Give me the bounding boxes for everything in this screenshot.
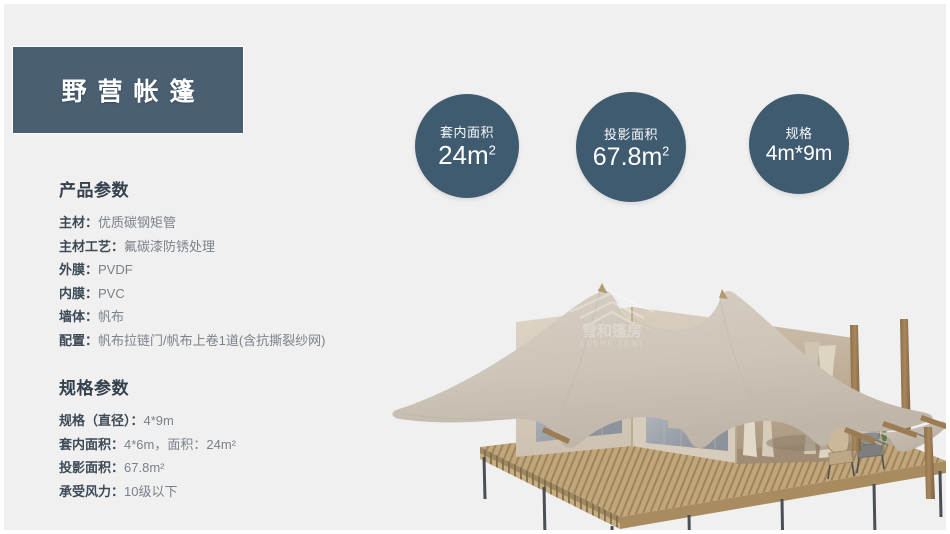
tent-render-svg bbox=[384, 199, 950, 534]
spec-value: 4*9m bbox=[144, 413, 174, 428]
page-title-banner: 野营帐篷 bbox=[12, 46, 244, 134]
stat-badge-dimensions: 规格 4m*9m bbox=[749, 94, 849, 194]
spec-value: 67.8m² bbox=[124, 460, 164, 475]
spec-label: 外膜： bbox=[59, 262, 98, 277]
post-right-outer bbox=[924, 427, 935, 499]
spec-value: 4*6m，面积：24m² bbox=[124, 437, 236, 452]
spec-row: 主材：优质碳钢矩管 bbox=[59, 211, 389, 235]
spec-value: 优质碳钢矩管 bbox=[98, 215, 176, 230]
spec-row: 主材工艺：氟碳漆防锈处理 bbox=[59, 235, 389, 259]
spec-row: 墙体：帆布 bbox=[59, 305, 389, 329]
stat-badge-label: 规格 bbox=[785, 123, 812, 142]
specification-panel: 产品参数 主材：优质碳钢矩管 主材工艺：氟碳漆防锈处理 外膜：PVDF 内膜：P… bbox=[59, 176, 389, 525]
spec-section-heading: 规格参数 bbox=[59, 374, 389, 399]
spec-value: 帆布拉链门/帆布上卷1道(含抗撕裂纱网) bbox=[98, 333, 326, 348]
stat-badge-label: 套内面积 bbox=[440, 122, 494, 141]
stat-badge-label: 投影面积 bbox=[604, 124, 658, 143]
tent-illustration bbox=[384, 199, 950, 534]
stat-badge-projected-area: 投影面积 67.8m2 bbox=[576, 92, 686, 202]
spec-label: 主材工艺： bbox=[59, 239, 124, 254]
stat-badge-interior-area: 套内面积 24m2 bbox=[415, 94, 519, 198]
spec-label: 主材： bbox=[59, 215, 98, 230]
spec-row: 承受风力：10级以下 bbox=[59, 480, 389, 504]
spec-row: 外膜：PVDF bbox=[59, 258, 389, 282]
product-section-heading: 产品参数 bbox=[59, 176, 389, 201]
spec-value: PVDF bbox=[98, 262, 133, 277]
stat-badge-value: 67.8m2 bbox=[593, 144, 669, 170]
spec-label: 配置： bbox=[59, 333, 98, 348]
spec-label: 规格（直径）： bbox=[59, 413, 144, 428]
spec-row: 内膜：PVC bbox=[59, 282, 389, 306]
spec-label: 投影面积： bbox=[59, 460, 124, 475]
spec-value: 10级以下 bbox=[124, 484, 177, 499]
specification-parameter-list: 规格（直径）：4*9m 套内面积：4*6m，面积：24m² 投影面积：67.8m… bbox=[59, 409, 389, 503]
spec-label: 套内面积： bbox=[59, 437, 124, 452]
product-parameter-list: 主材：优质碳钢矩管 主材工艺：氟碳漆防锈处理 外膜：PVDF 内膜：PVC 墙体… bbox=[59, 211, 389, 352]
page-title: 野营帐篷 bbox=[50, 72, 205, 108]
stat-badge-value: 24m2 bbox=[438, 142, 496, 169]
spec-label: 内膜： bbox=[59, 286, 98, 301]
spec-row: 投影面积：67.8m² bbox=[59, 456, 389, 480]
product-spec-page: 野营帐篷 套内面积 24m2 投影面积 67.8m2 规格 4m*9m 产品参数… bbox=[0, 0, 950, 534]
spec-value: 氟碳漆防锈处理 bbox=[124, 239, 215, 254]
spec-value: PVC bbox=[98, 286, 125, 301]
spec-value: 帆布 bbox=[98, 309, 124, 324]
stat-badge-value: 4m*9m bbox=[766, 143, 833, 165]
spec-row: 规格（直径）：4*9m bbox=[59, 409, 389, 433]
spec-row: 配置：帆布拉链门/帆布上卷1道(含抗撕裂纱网) bbox=[59, 329, 389, 353]
spec-label: 墙体： bbox=[59, 309, 98, 324]
spec-row: 套内面积：4*6m，面积：24m² bbox=[59, 433, 389, 457]
spec-label: 承受风力： bbox=[59, 484, 124, 499]
